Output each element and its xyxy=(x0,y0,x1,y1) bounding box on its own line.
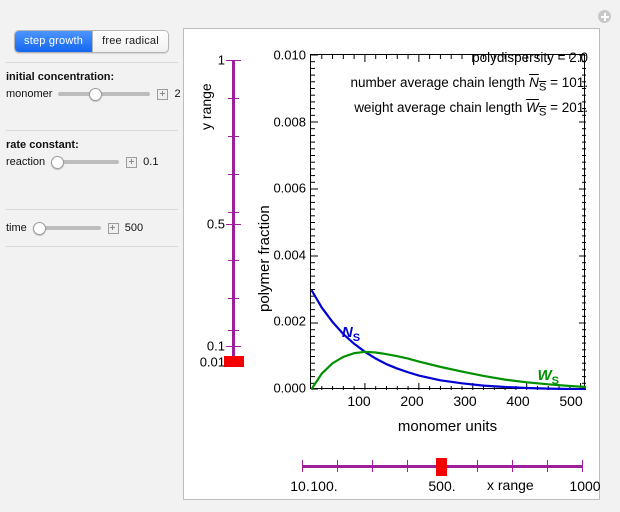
mode-toggle-group[interactable]: step growth free radical xyxy=(14,30,169,53)
annotation-weight-average: weight average chain length WS = 201. xyxy=(288,100,588,119)
x-tick-label: 200 xyxy=(400,393,423,409)
divider xyxy=(6,246,178,247)
annotation-number-average-suffix: = 101. xyxy=(546,75,588,90)
x-slider-label-1000: 1000 xyxy=(569,478,600,494)
y-slider-tick xyxy=(226,224,241,225)
tab-free-radical[interactable]: free radical xyxy=(93,31,168,52)
y-tick-label: 0.000 xyxy=(268,381,306,396)
plus-box-icon[interactable] xyxy=(157,89,168,100)
slider-track-time[interactable] xyxy=(33,219,101,237)
divider xyxy=(6,62,178,63)
curve-label-ns: NS xyxy=(342,324,360,344)
gear-icon[interactable] xyxy=(598,10,611,23)
x-slider-label-500: 500. xyxy=(428,478,455,494)
x-slider-tick xyxy=(337,460,338,472)
slider-row-monomer: monomer 2 xyxy=(6,85,181,103)
slider-label-time: time xyxy=(6,222,27,234)
x-slider-tick xyxy=(512,460,513,472)
application-window: step growth free radical initial concent… xyxy=(0,0,620,512)
x-slider-label-100: 100. xyxy=(310,478,337,494)
y-slider-tick xyxy=(228,212,239,213)
x-slider-tick xyxy=(547,460,548,472)
annotation-number-average-symbol: NS xyxy=(529,75,546,90)
slider-knob-time[interactable] xyxy=(33,222,46,235)
slider-track-monomer[interactable] xyxy=(58,85,150,103)
slider-knob-reaction[interactable] xyxy=(51,156,64,169)
y-slider-tick xyxy=(226,60,241,61)
x-range-slider-title: x range xyxy=(487,477,534,493)
x-axis-title: monomer units xyxy=(310,418,585,435)
y-slider-label-01: 0.1 xyxy=(185,339,225,354)
annotation-weight-average-prefix: weight average chain length xyxy=(354,100,526,115)
y-slider-tick xyxy=(228,98,239,99)
annotation-weight-average-symbol: WS xyxy=(526,100,546,115)
annotation-weight-average-suffix: = 201. xyxy=(546,100,588,115)
y-slider-tick xyxy=(228,260,239,261)
slider-track-reaction[interactable] xyxy=(51,153,119,171)
x-tick-label: 500 xyxy=(559,393,582,409)
y-tick-label: 0.004 xyxy=(268,248,306,263)
y-slider-label-001: 0.01 xyxy=(178,355,225,370)
divider xyxy=(6,130,178,131)
x-slider-tick xyxy=(302,460,303,472)
annotation-number-average: number average chain length NS = 101. xyxy=(288,75,588,94)
y-slider-tick xyxy=(228,136,239,137)
x-slider-tick xyxy=(372,460,373,472)
slider-label-reaction: reaction xyxy=(6,156,45,168)
x-tick-label: 400 xyxy=(506,393,529,409)
slider-row-time: time 500 xyxy=(6,219,143,237)
plus-box-icon[interactable] xyxy=(126,157,137,168)
x-tick-label: 100 xyxy=(347,393,370,409)
x-slider-tick xyxy=(582,460,583,472)
y-slider-tick xyxy=(228,330,239,331)
annotation-number-average-prefix: number average chain length xyxy=(350,75,529,90)
x-slider-handle[interactable] xyxy=(436,458,447,476)
section-heading-initial-concentration: initial concentration: xyxy=(6,71,114,83)
x-tick-label: 300 xyxy=(453,393,476,409)
tab-step-growth[interactable]: step growth xyxy=(15,31,93,52)
slider-label-monomer: monomer xyxy=(6,88,52,100)
slider-knob-monomer[interactable] xyxy=(89,88,102,101)
x-range-slider[interactable] xyxy=(302,465,583,468)
divider xyxy=(6,209,178,210)
x-slider-tick xyxy=(407,460,408,472)
slider-value-reaction: 0.1 xyxy=(143,156,158,168)
annotation-polydispersity: polydispersity = 2.0 xyxy=(300,50,588,65)
y-slider-tick xyxy=(228,174,239,175)
x-slider-label-10: 10. xyxy=(290,478,309,494)
x-slider-tick xyxy=(477,460,478,472)
y-tick-label: 0.002 xyxy=(268,314,306,329)
y-slider-tick xyxy=(228,298,239,299)
y-slider-label-1: 1 xyxy=(185,53,225,68)
y-slider-label-05: 0.5 xyxy=(185,217,225,232)
y-tick-label: 0.006 xyxy=(268,181,306,196)
slider-row-reaction: reaction 0.1 xyxy=(6,153,158,171)
y-range-slider-title: y range xyxy=(198,83,214,130)
curve-label-ws: WS xyxy=(537,367,559,387)
section-heading-rate-constant: rate constant: xyxy=(6,139,79,151)
y-slider-handle[interactable] xyxy=(224,356,244,367)
slider-value-time: 500 xyxy=(125,222,143,234)
control-panel: step growth free radical initial concent… xyxy=(0,0,183,512)
plus-box-icon[interactable] xyxy=(108,223,119,234)
slider-track-line xyxy=(58,92,150,96)
y-range-slider[interactable] xyxy=(232,60,235,365)
slider-value-monomer: 2 xyxy=(174,88,180,100)
y-slider-tick xyxy=(226,346,241,347)
